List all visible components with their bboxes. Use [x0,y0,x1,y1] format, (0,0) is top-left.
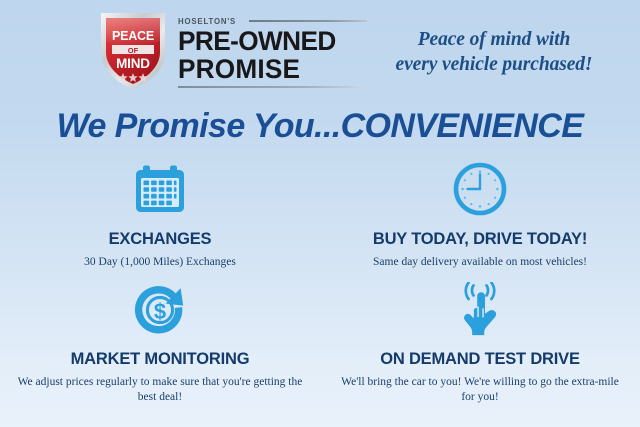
header-rule-bottom [178,86,366,88]
promise-poster: PEACE OF MIND HOSELTON'S PRE-OWNED PROMI [0,0,640,427]
tagline-line2: every vehicle purchased! [358,52,630,77]
shield-icon: PEACE OF MIND [97,8,169,92]
header-tagline: Peace of mind with every vehicle purchas… [358,27,630,77]
calendar-icon [134,164,186,214]
dealer-name: HOSELTON'S [178,16,236,26]
header-rule-top [249,20,367,22]
peace-of-mind-shield-logo: PEACE OF MIND [97,8,169,92]
clock-icon [453,162,507,216]
svg-text:MIND: MIND [116,56,150,71]
brand-text-block: HOSELTON'S PRE-OWNED PROMISE [178,14,367,88]
feature-description: We adjust prices regularly to make sure … [15,375,305,405]
feature-market-monitoring: $ MARKET MONITORING We adjust prices reg… [0,280,320,405]
tagline-line1: Peace of mind with [358,27,630,52]
feature-on-demand-test-drive: ON DEMAND TEST DRIVE We'll bring the car… [320,280,640,405]
feature-description: Same day delivery available on most vehi… [373,255,587,270]
feature-exchanges: EXCHANGES 30 Day (1,000 Miles) Exchanges [0,158,320,280]
feature-description: We'll bring the car to you! We're willin… [335,375,625,405]
feature-buy-today-drive-today: BUY TODAY, DRIVE TODAY! Same day deliver… [320,158,640,280]
poster-header: PEACE OF MIND HOSELTON'S PRE-OWNED PROMI [0,0,640,100]
feature-icon-container [453,280,507,340]
feature-icon-container [134,158,186,220]
promise-title-line1: PRE-OWNED [178,27,361,55]
brand-lockup: PEACE OF MIND HOSELTON'S PRE-OWNED PROMI [97,8,367,92]
feature-title: EXCHANGES [109,230,212,249]
feature-title: ON DEMAND TEST DRIVE [380,350,580,369]
tap-hand-icon [453,282,507,338]
feature-icon-container [453,158,507,220]
svg-text:OF: OF [128,46,139,55]
page-headline: We Promise You...CONVENIENCE [0,106,640,146]
features-grid: EXCHANGES 30 Day (1,000 Miles) Exchanges [0,158,640,405]
svg-text:$: $ [154,299,166,324]
feature-description: 30 Day (1,000 Miles) Exchanges [84,255,236,270]
svg-text:PEACE: PEACE [112,29,154,43]
feature-title: MARKET MONITORING [71,350,250,369]
feature-title: BUY TODAY, DRIVE TODAY! [373,230,587,249]
promise-title-line2: PROMISE [178,55,361,83]
dollar-refresh-icon: $ [133,283,187,337]
feature-icon-container: $ [133,280,187,340]
